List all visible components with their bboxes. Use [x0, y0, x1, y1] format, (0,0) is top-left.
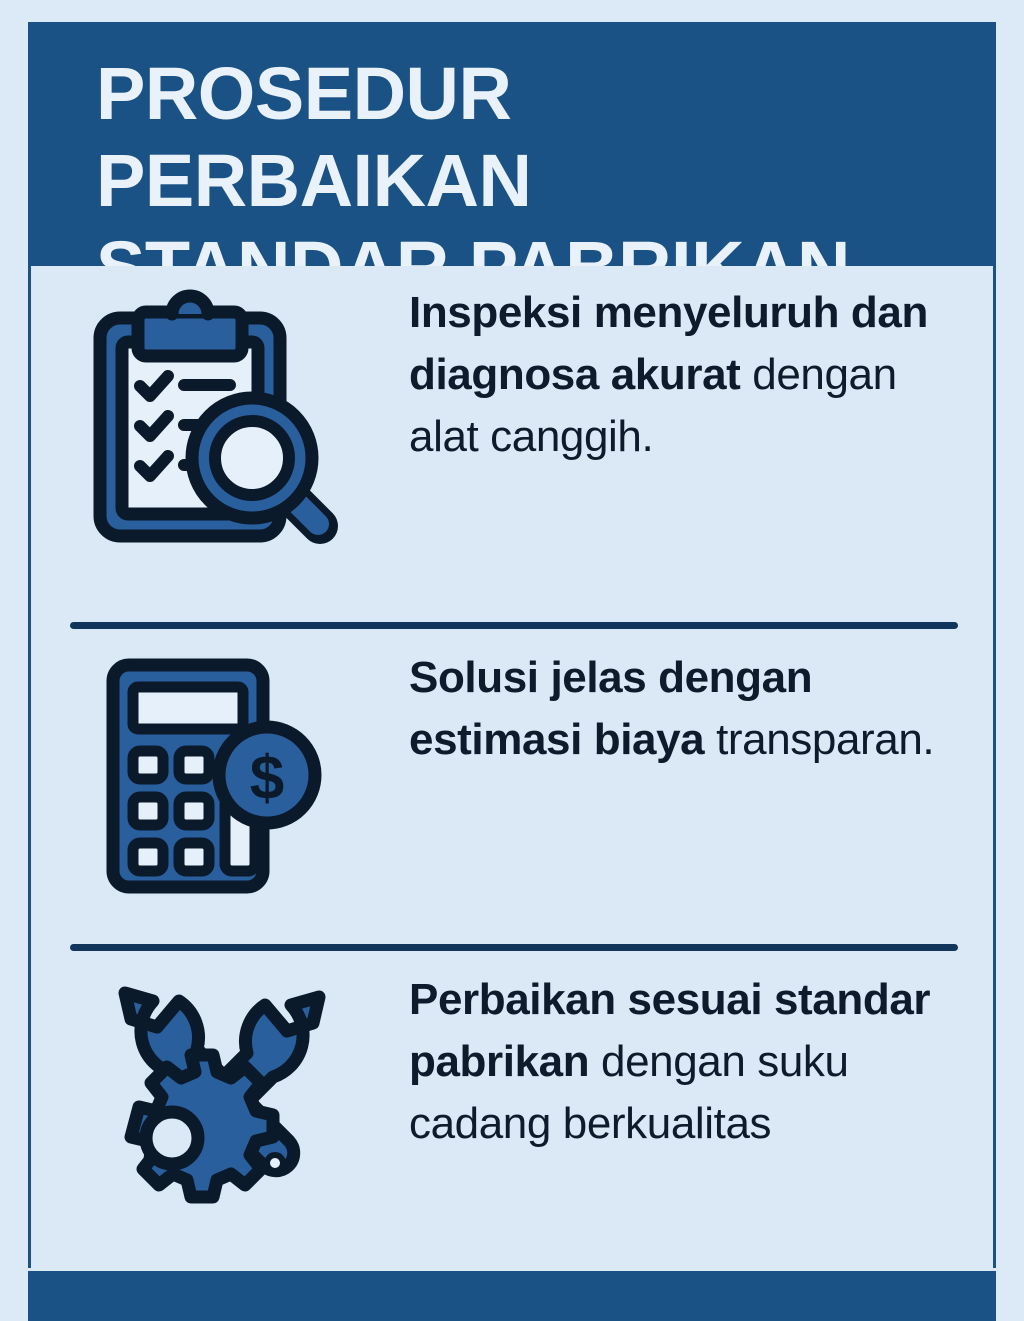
text-cell: Inspeksi menyeluruh dan diagnosa akurat …	[409, 282, 993, 468]
dollar-coin-glyph: $	[219, 727, 315, 823]
text-cell: Solusi jelas dengan estimasi biaya trans…	[409, 647, 993, 771]
list-item: Inspeksi menyeluruh dan diagnosa akurat …	[31, 282, 993, 625]
calculator-dollar-icon: $	[95, 651, 345, 901]
poster-header: PROSEDUR PERBAIKAN STANDAR PABRIKAN	[28, 22, 996, 266]
svg-text:$: $	[250, 744, 284, 813]
item-tail-text: transparan.	[716, 715, 934, 764]
gear-glyph	[131, 1055, 273, 1197]
text-cell: Perbaikan sesuai standar pabrikan dengan…	[409, 969, 993, 1155]
item-text: Solusi jelas dengan estimasi biaya trans…	[409, 647, 975, 771]
divider	[70, 622, 958, 629]
icon-cell: $	[31, 647, 409, 901]
icon-cell	[31, 969, 409, 1218]
clipboard-magnifier-icon	[84, 286, 356, 558]
infographic-poster: PROSEDUR PERBAIKAN STANDAR PABRIKAN	[28, 22, 996, 1321]
list-item: Perbaikan sesuai standar pabrikan dengan…	[31, 969, 993, 1259]
wrench-gear-icon	[95, 983, 345, 1218]
icon-cell	[31, 282, 409, 558]
item-text: Inspeksi menyeluruh dan diagnosa akurat …	[409, 282, 975, 468]
list-item: $ Solusi jelas dengan estimasi biaya tra…	[31, 647, 993, 947]
poster-body: Inspeksi menyeluruh dan diagnosa akurat …	[28, 266, 996, 1268]
item-text: Perbaikan sesuai standar pabrikan dengan…	[409, 969, 975, 1155]
poster-footer	[28, 1271, 996, 1321]
magnifier-glyph	[192, 398, 320, 526]
divider	[70, 944, 958, 951]
